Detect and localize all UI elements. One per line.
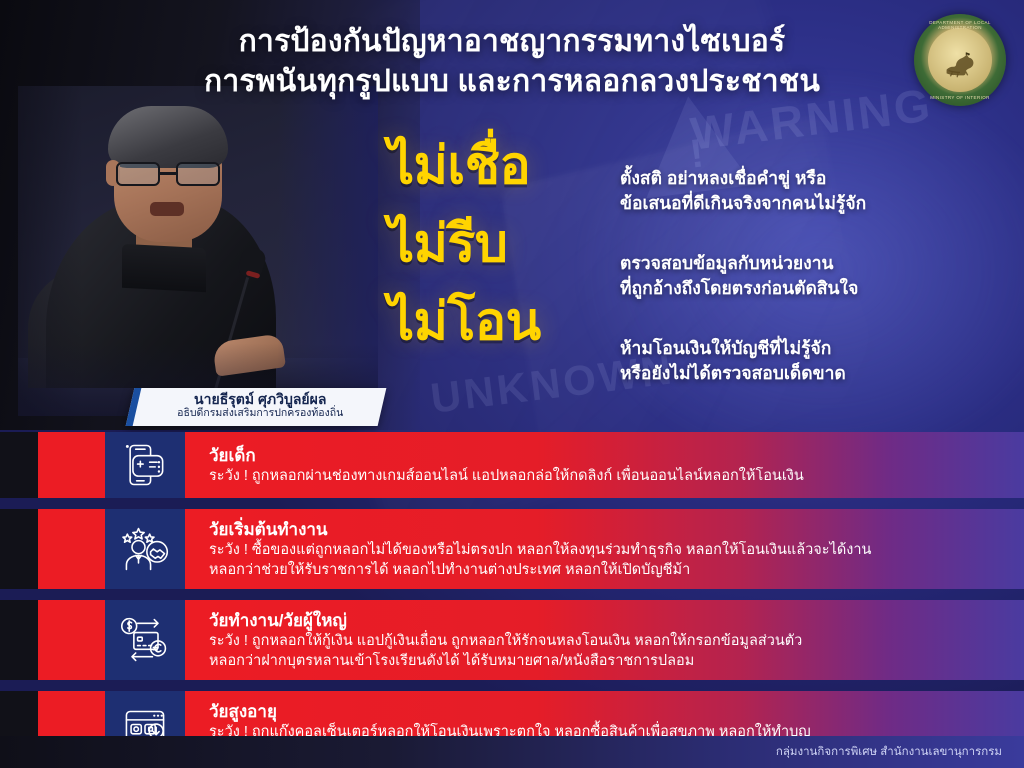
row-red-tab: [38, 509, 105, 589]
lion-emblem-icon: [937, 37, 983, 83]
slogan-detail-list: ตั้งสติ อย่าหลงเชื่อคำขู่ หรือ ข้อเสนอที…: [620, 166, 1010, 386]
slogan-detail-1: ตั้งสติ อย่าหลงเชื่อคำขู่ หรือ ข้อเสนอที…: [620, 166, 1010, 217]
slogan-detail-1-line-2: ข้อเสนอที่ดีเกินจริงจากคนไม่รู้จัก: [620, 191, 1010, 216]
row-description: ระวัง ! ซื้อของแต่ถูกหลอกไม่ได้ของหรือไม…: [209, 541, 998, 580]
phone-gamepad-icon: [119, 439, 171, 491]
speaker-position: อธิบดีกรมส่งเสริมการปกครองท้องถิ่น: [138, 407, 383, 420]
slogan-keyword-2: ไม่รีบ: [388, 218, 600, 270]
age-row-early-career: วัยเริ่มต้นทำงาน ระวัง ! ซื้อของแต่ถูกหล…: [0, 509, 1024, 589]
row-icon-box: [105, 432, 185, 498]
footer-bar: กลุ่มงานกิจการพิเศษ สำนักงานเลขานุการกรม: [0, 736, 1024, 768]
slogan-detail-2-line-2: ที่ถูกอ้างถึงโดยตรงก่อนตัดสินใจ: [620, 276, 1010, 301]
row-description: ระวัง ! ถูกหลอกให้กู้เงิน แอปกู้เงินเถื่…: [209, 632, 998, 671]
row-title: วัยเริ่มต้นทำงาน: [209, 519, 998, 540]
row-left-margin: [0, 432, 38, 498]
row-desc-line-2: หลอกว่าช่วยให้รับราชการได้ หลอกไปทำงานต่…: [209, 561, 998, 581]
row-title: วัยสูงอายุ: [209, 701, 998, 722]
money-transfer-icon: [119, 614, 171, 666]
speaker-name: นายธีรุตม์ ศุภวิบูลย์ผล: [138, 391, 383, 407]
speaker-photo: [18, 86, 378, 416]
row-left-margin: [0, 509, 38, 589]
row-red-tab: [38, 600, 105, 680]
slogan-list: ไม่เชื่อ ไม่รีบ ไม่โอน: [388, 140, 600, 348]
row-title: วัยทำงาน/วัยผู้ใหญ่: [209, 610, 998, 631]
seal-ring-text-top: DEPARTMENT OF LOCAL ADMINISTRATION: [914, 20, 1006, 30]
slogan-detail-2-line-1: ตรวจสอบข้อมูลกับหน่วยงาน: [620, 251, 1010, 276]
row-desc-line-2: หลอกว่าฝากบุตรหลานเข้าโรงเรียนดังได้ ได้…: [209, 652, 998, 672]
speaker-name-banner: นายธีรุตม์ ศุภวิบูลย์ผล อธิบดีกรมส่งเสริ…: [126, 388, 387, 426]
slogan-detail-3-line-1: ห้ามโอนเงินให้บัญชีที่ไม่รู้จัก: [620, 336, 1010, 361]
slogan-detail-1-line-1: ตั้งสติ อย่าหลงเชื่อคำขู่ หรือ: [620, 166, 1010, 191]
slogan-detail-3-line-2: หรือยังไม่ได้ตรวจสอบเด็ดขาด: [620, 361, 1010, 386]
row-content: วัยเด็ก ระวัง ! ถูกหลอกผ่านช่องทางเกมส์อ…: [185, 432, 1024, 498]
row-desc-line-1: ระวัง ! ซื้อของแต่ถูกหลอกไม่ได้ของหรือไม…: [209, 541, 998, 561]
age-row-working-adult: วัยทำงาน/วัยผู้ใหญ่ ระวัง ! ถูกหลอกให้กู…: [0, 600, 1024, 680]
infographic-poster: ! WARNING UNKNOWN การป้องกันปัญหาอาชญากร…: [0, 0, 1024, 768]
footer-credit: กลุ่มงานกิจการพิเศษ สำนักงานเลขานุการกรม: [776, 743, 1002, 761]
title-line-1: การป้องกันปัญหาอาชญากรรมทางไซเบอร์: [239, 25, 786, 58]
row-red-tab: [38, 432, 105, 498]
seal-ring-text-bottom: MINISTRY OF INTERIOR: [914, 95, 1006, 100]
row-left-margin: [0, 600, 38, 680]
slogan-keyword-1: ไม่เชื่อ: [388, 140, 600, 192]
row-icon-box: [105, 509, 185, 589]
businessman-handshake-icon: [119, 523, 171, 575]
slogan-detail-2: ตรวจสอบข้อมูลกับหน่วยงาน ที่ถูกอ้างถึงโด…: [620, 251, 1010, 302]
slogan-keyword-3: ไม่โอน: [388, 296, 600, 348]
dla-seal-icon: DEPARTMENT OF LOCAL ADMINISTRATION MINIS…: [914, 14, 1006, 106]
row-description: ระวัง ! ถูกหลอกผ่านช่องทางเกมส์ออนไลน์ แ…: [209, 467, 998, 487]
row-content: วัยทำงาน/วัยผู้ใหญ่ ระวัง ! ถูกหลอกให้กู…: [185, 600, 1024, 680]
row-desc-line-1: ระวัง ! ถูกหลอกให้กู้เงิน แอปกู้เงินเถื่…: [209, 632, 998, 652]
age-row-child: วัยเด็ก ระวัง ! ถูกหลอกผ่านช่องทางเกมส์อ…: [0, 432, 1024, 498]
age-group-list: วัยเด็ก ระวัง ! ถูกหลอกผ่านช่องทางเกมส์อ…: [0, 432, 1024, 768]
photo-bottom-fade: [18, 86, 378, 416]
title-line-2: การพนันทุกรูปแบบ และการหลอกลวงประชาชน: [120, 62, 904, 102]
row-content: วัยเริ่มต้นทำงาน ระวัง ! ซื้อของแต่ถูกหล…: [185, 509, 1024, 589]
row-title: วัยเด็ก: [209, 445, 998, 466]
row-desc-line-1: ระวัง ! ถูกหลอกผ่านช่องทางเกมส์ออนไลน์ แ…: [209, 467, 998, 487]
row-icon-box: [105, 600, 185, 680]
page-title: การป้องกันปัญหาอาชญากรรมทางไซเบอร์ การพน…: [0, 22, 1024, 102]
slogan-detail-3: ห้ามโอนเงินให้บัญชีที่ไม่รู้จัก หรือยังไ…: [620, 336, 1010, 387]
